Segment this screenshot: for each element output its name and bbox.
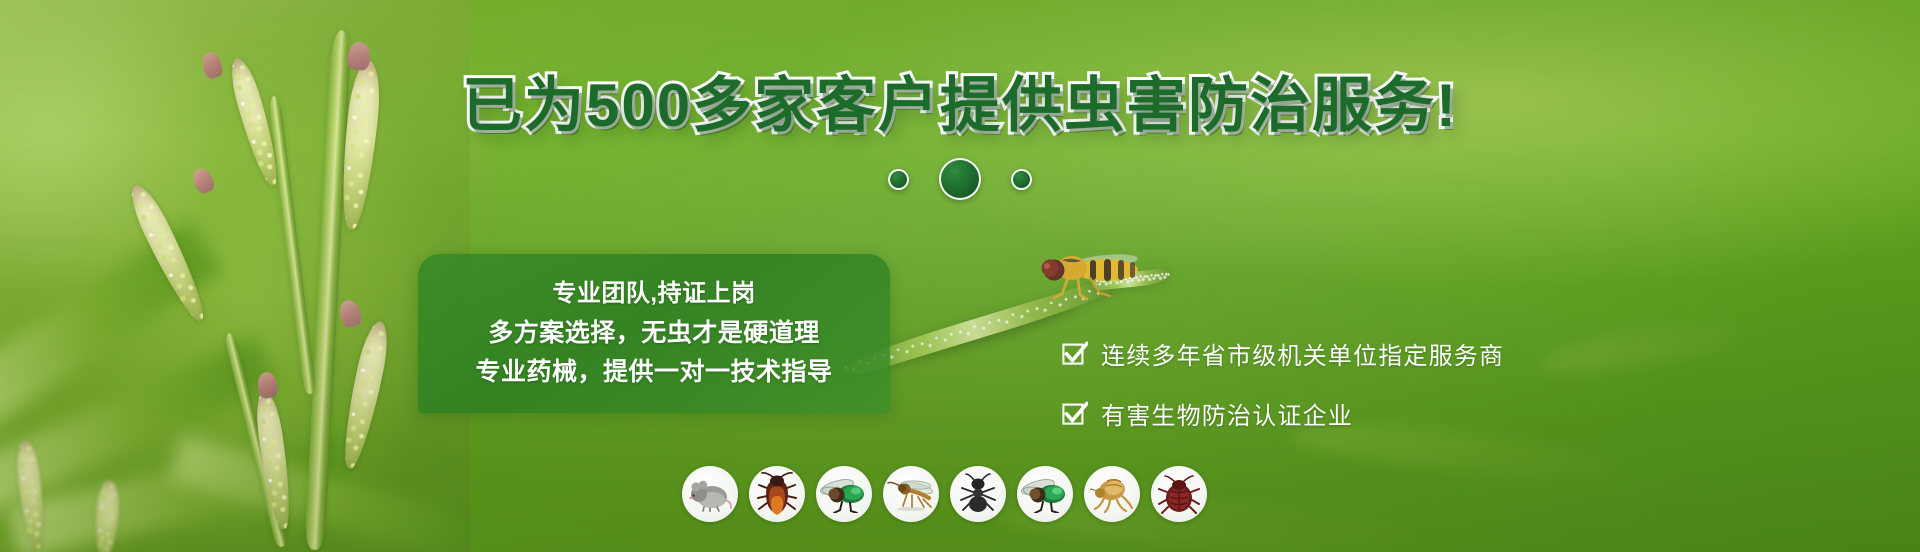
cockroach-icon [756, 472, 798, 516]
mosquito-icon [887, 476, 935, 512]
housefly-icon [1021, 475, 1069, 513]
certification-claim-item: 连续多年省市级机关单位指定服务商 [1062, 336, 1504, 371]
selling-point-line-3: 专业药械，提供一对一技术指导 [475, 358, 832, 386]
pest-control-banner: 已为500多家客户提供虫害防治服务! 专业团队,持证上岗 多方案选择，无虫才是硬… [0, 0, 1920, 552]
checkbox-checked-icon [1062, 401, 1088, 427]
ant-icon [958, 473, 998, 515]
selling-point-line-1: 专业团队,持证上岗 [552, 281, 755, 308]
bedbug-icon [1158, 473, 1200, 515]
pest-icon-mosquito[interactable] [883, 466, 939, 522]
certification-claim-item: 有害生物防治认证企业 [1062, 396, 1504, 431]
flea-icon [1090, 474, 1134, 514]
pest-icon-flea[interactable] [1084, 466, 1140, 522]
blowfly-icon [820, 475, 868, 513]
mouse-icon [687, 476, 733, 512]
pest-icon-bedbug[interactable] [1151, 466, 1207, 522]
deco-dot-small-left [888, 169, 909, 190]
certification-claims-list: 连续多年省市级机关单位指定服务商 有害生物防治认证企业 [1062, 336, 1504, 431]
pest-icon-ant[interactable] [950, 466, 1006, 522]
deco-dot-large-center [939, 158, 981, 200]
pest-icon-blowfly[interactable] [816, 466, 872, 522]
deco-dot-small-right [1011, 169, 1032, 190]
pest-icon-mouse[interactable] [682, 466, 738, 522]
certification-claim-text: 连续多年省市级机关单位指定服务商 [1101, 336, 1504, 371]
banner-headline: 已为500多家客户提供虫害防治服务! [0, 76, 1920, 136]
pest-icon-cockroach[interactable] [749, 466, 805, 522]
pest-type-icon-strip [682, 466, 1207, 522]
decorative-dots [0, 158, 1920, 200]
selling-points-panel: 专业团队,持证上岗 多方案选择，无虫才是硬道理 专业药械，提供一对一技术指导 [418, 254, 890, 413]
certification-claim-text: 有害生物防治认证企业 [1101, 396, 1353, 431]
pest-icon-housefly[interactable] [1017, 466, 1073, 522]
banner-headline-text: 已为500多家客户提供虫害防治服务! [462, 72, 1458, 139]
selling-point-line-2: 多方案选择，无虫才是硬道理 [488, 319, 820, 347]
checkbox-checked-icon [1062, 341, 1088, 367]
